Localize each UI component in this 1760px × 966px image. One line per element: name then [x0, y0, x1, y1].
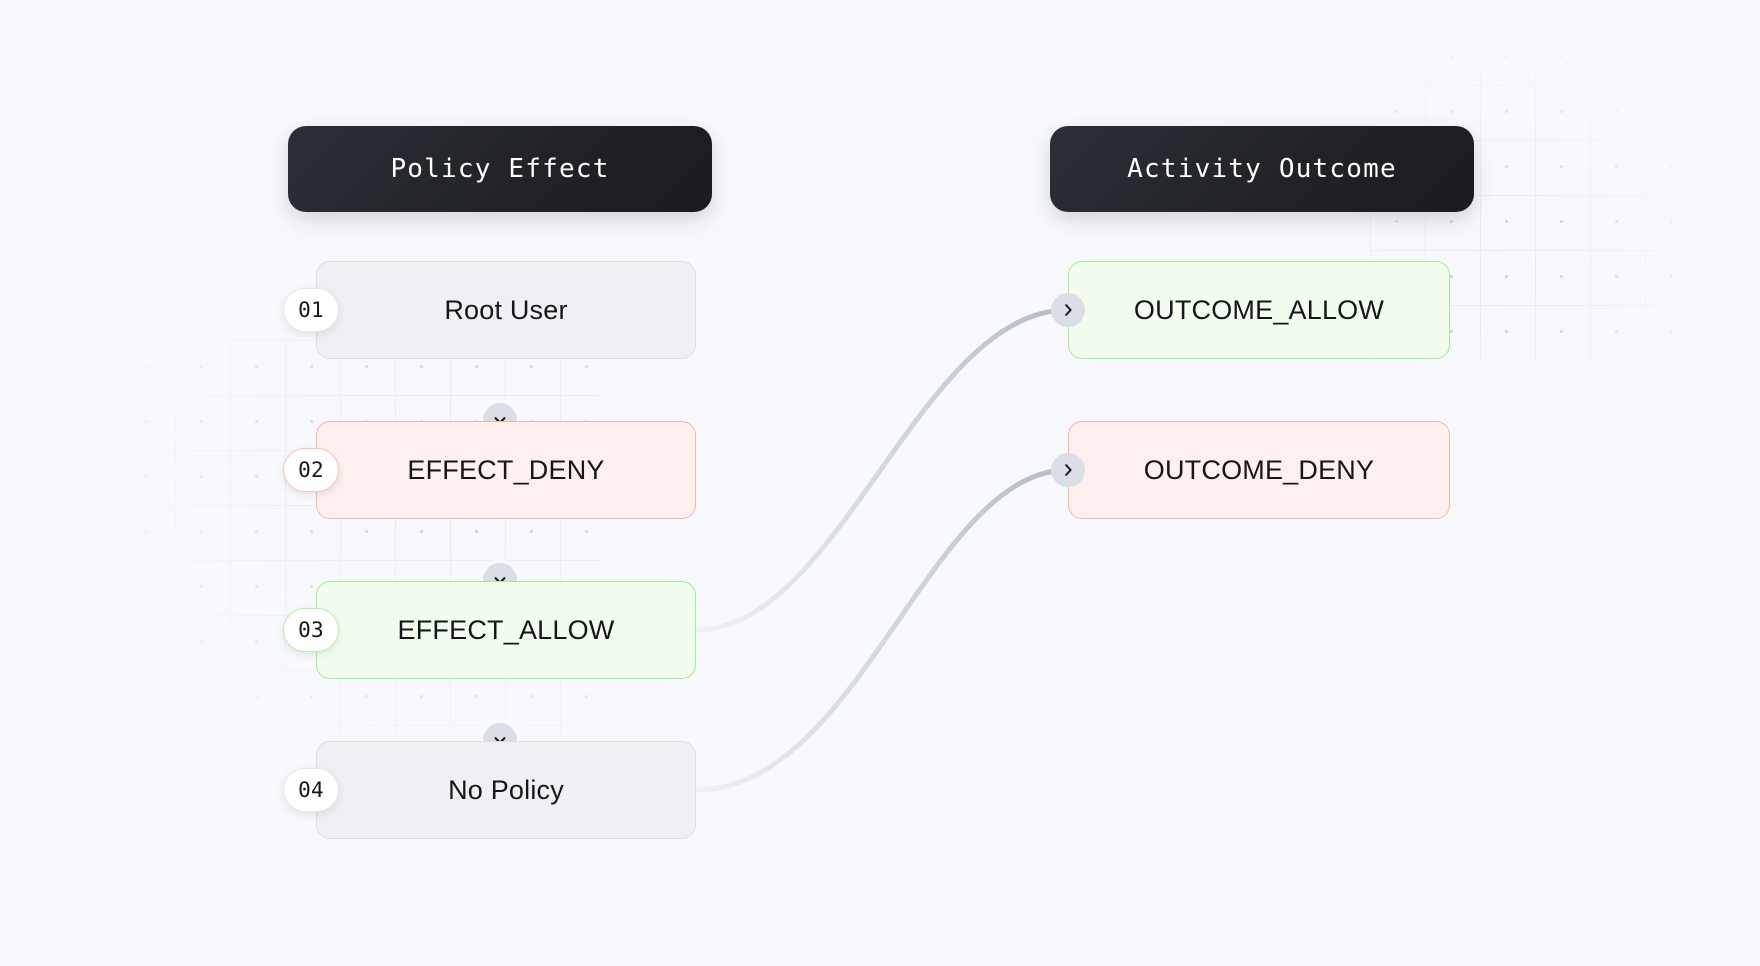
node-index-badge-03: 03 [283, 608, 339, 652]
node-index-badge-02: 02 [283, 448, 339, 492]
column-header-policy-effect: Policy Effect [288, 126, 712, 212]
edge-effect-allow-to-outcome-allow [696, 310, 1068, 630]
node-outcome-allow[interactable]: OUTCOME_ALLOW [1068, 261, 1450, 359]
column-header-activity-outcome-label: Activity Outcome [1127, 154, 1397, 184]
node-outcome-deny[interactable]: OUTCOME_DENY [1068, 421, 1450, 519]
decorative-grid-bottom-left [120, 340, 600, 810]
node-effect-deny-label: EFFECT_DENY [407, 455, 604, 486]
decorative-grid-dots-bottom-left [120, 340, 600, 810]
node-index-badge-04: 04 [283, 768, 339, 812]
node-outcome-deny-label: OUTCOME_DENY [1144, 455, 1374, 486]
chevron-right-icon [1059, 301, 1077, 319]
node-outcome-allow-label: OUTCOME_ALLOW [1134, 295, 1384, 326]
node-effect-allow[interactable]: 03 EFFECT_ALLOW [316, 581, 696, 679]
node-root-user-label: Root User [444, 295, 567, 326]
inbound-connector-outcome-deny[interactable] [1051, 453, 1085, 487]
node-no-policy-label: No Policy [448, 775, 564, 806]
inbound-connector-outcome-allow[interactable] [1051, 293, 1085, 327]
edge-layer [0, 0, 1760, 966]
node-effect-allow-label: EFFECT_ALLOW [398, 615, 615, 646]
node-index-badge-01: 01 [283, 288, 339, 332]
column-header-policy-effect-label: Policy Effect [390, 154, 609, 184]
node-no-policy[interactable]: 04 No Policy [316, 741, 696, 839]
node-root-user[interactable]: 01 Root User [316, 261, 696, 359]
column-header-activity-outcome: Activity Outcome [1050, 126, 1474, 212]
edge-no-policy-to-outcome-deny [696, 470, 1068, 790]
node-effect-deny[interactable]: 02 EFFECT_DENY [316, 421, 696, 519]
chevron-right-icon [1059, 461, 1077, 479]
